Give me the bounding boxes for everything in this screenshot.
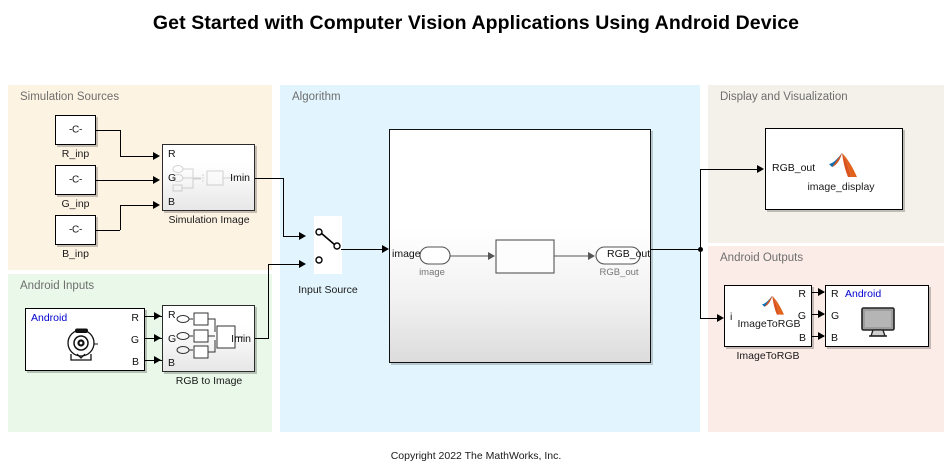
rgb-to-image-in-g: G (168, 333, 176, 345)
android-display-in-r: R (831, 288, 839, 300)
simulation-image-in-g: G (168, 172, 176, 184)
block-image-to-rgb[interactable]: i ImageToRGB R G B (724, 285, 812, 347)
input-source-caption: Input Source (288, 284, 368, 296)
block-image-display[interactable]: RGB_out image_display (765, 128, 903, 210)
b-const-caption: B_inp (40, 248, 111, 260)
algorithm-inner-graphic (398, 234, 644, 294)
wire-b-const-v (120, 205, 121, 230)
android-display-badge: Android (845, 288, 881, 300)
block-r-const[interactable]: -C- (55, 115, 96, 145)
panel-label-android-inputs: Android Inputs (20, 280, 94, 292)
arrow-android-b (818, 332, 825, 340)
android-display-in-g: G (831, 310, 839, 322)
wire-rgb2img-out-v (268, 264, 269, 339)
image-display-in-port: RGB_out (772, 162, 815, 174)
rgb-to-image-caption: RGB to Image (153, 375, 265, 387)
b-const-value: -C- (56, 225, 95, 236)
rgb-to-image-in-r: R (168, 309, 176, 321)
android-camera-out-g: G (131, 334, 139, 346)
block-android-display[interactable]: R G B Android (825, 285, 929, 347)
wire-b-const (96, 230, 120, 231)
arrow-imagetorgb-in (717, 314, 724, 322)
rgb-to-image-out: Imin (231, 333, 251, 345)
manual-switch-icon (314, 216, 342, 274)
copyright-text: Copyright 2022 The MathWorks, Inc. (0, 450, 952, 462)
monitor-icon (860, 307, 896, 337)
page-title: Get Started with Computer Vision Applica… (0, 12, 952, 35)
wire-r-const (96, 130, 120, 131)
wire-g-const (96, 180, 154, 181)
android-camera-out-b: B (132, 356, 139, 368)
simulation-image-out: Imin (230, 172, 250, 184)
rgb-to-image-in-b: B (168, 357, 175, 369)
image-to-rgb-out-b: B (799, 332, 806, 344)
r-const-caption: R_inp (40, 148, 111, 160)
arrow-switch-in2 (299, 260, 306, 268)
panel-label-display: Display and Visualization (720, 91, 848, 103)
algorithm-in-port-name: image (404, 267, 460, 278)
arrow-rgb2img-b (154, 356, 161, 364)
block-g-const[interactable]: -C- (55, 165, 96, 195)
android-camera-badge: Android (31, 312, 67, 324)
android-display-in-b: B (831, 332, 838, 344)
wire-simimage-out-2 (283, 236, 300, 237)
arrow-rgb2img-r (154, 312, 161, 320)
image-to-rgb-caption: ImageToRGB (716, 350, 820, 362)
wire-r-const-2 (120, 156, 154, 157)
image-to-rgb-out-r: R (798, 288, 806, 300)
block-b-const[interactable]: -C- (55, 215, 96, 245)
arrow-android-g (818, 310, 825, 318)
image-to-rgb-out-g: G (798, 310, 806, 322)
arrow-sim-r (153, 152, 160, 160)
wire-to-display (700, 169, 758, 170)
block-android-camera[interactable]: Android R G B (25, 308, 145, 371)
arrow-android-r (818, 288, 825, 296)
wire-algorithm-out (651, 249, 701, 250)
android-camera-out-r: R (131, 312, 139, 324)
arrow-algorithm-in (382, 245, 389, 253)
panel-label-algorithm: Algorithm (292, 91, 341, 103)
simulation-image-in-b: B (168, 196, 175, 208)
algorithm-out-port-name: RGB_out (587, 267, 651, 278)
block-algorithm-subsystem[interactable]: image image RGB_out RGB_out (389, 129, 651, 363)
arrow-switch-in1 (299, 232, 306, 240)
simulation-image-in-r: R (168, 148, 176, 160)
simulation-image-caption: Simulation Image (153, 214, 265, 226)
wire-r-const-v (120, 130, 121, 156)
wire-to-imagetorgb (700, 318, 718, 319)
arrow-sim-g (153, 176, 160, 184)
g-const-caption: G_inp (40, 198, 111, 210)
block-input-source[interactable] (314, 216, 342, 274)
camera-icon (58, 327, 104, 365)
wire-b-const-2 (120, 205, 154, 206)
image-display-inner-caption: image_display (786, 181, 896, 193)
diagram-canvas: Get Started with Computer Vision Applica… (0, 0, 952, 475)
arrow-sim-b (153, 201, 160, 209)
arrow-rgb2img-g (154, 334, 161, 342)
wire-rgb2img-out-2 (268, 264, 300, 265)
wire-rgb2img-out (255, 338, 268, 339)
block-rgb-to-image[interactable]: R G B Imin (162, 305, 255, 372)
r-const-value: -C- (56, 125, 95, 136)
panel-label-simulation-sources: Simulation Sources (20, 91, 119, 103)
wire-simimage-out (255, 178, 283, 179)
arrow-display-in (757, 165, 764, 173)
g-const-value: -C- (56, 175, 95, 186)
algorithm-in-port-label: image (392, 248, 421, 260)
wire-simimage-out-v (283, 178, 284, 236)
matlab-membrane-icon (828, 152, 858, 180)
panel-label-android-outputs: Android Outputs (720, 252, 803, 264)
block-simulation-image[interactable]: R G B Imin (162, 144, 255, 211)
wire-switch-out (341, 249, 383, 250)
wire-branch-down (700, 249, 701, 318)
algorithm-out-port-label: RGB_out (607, 248, 650, 260)
matlab-membrane-icon (761, 295, 785, 317)
wire-branch-up (700, 169, 701, 249)
